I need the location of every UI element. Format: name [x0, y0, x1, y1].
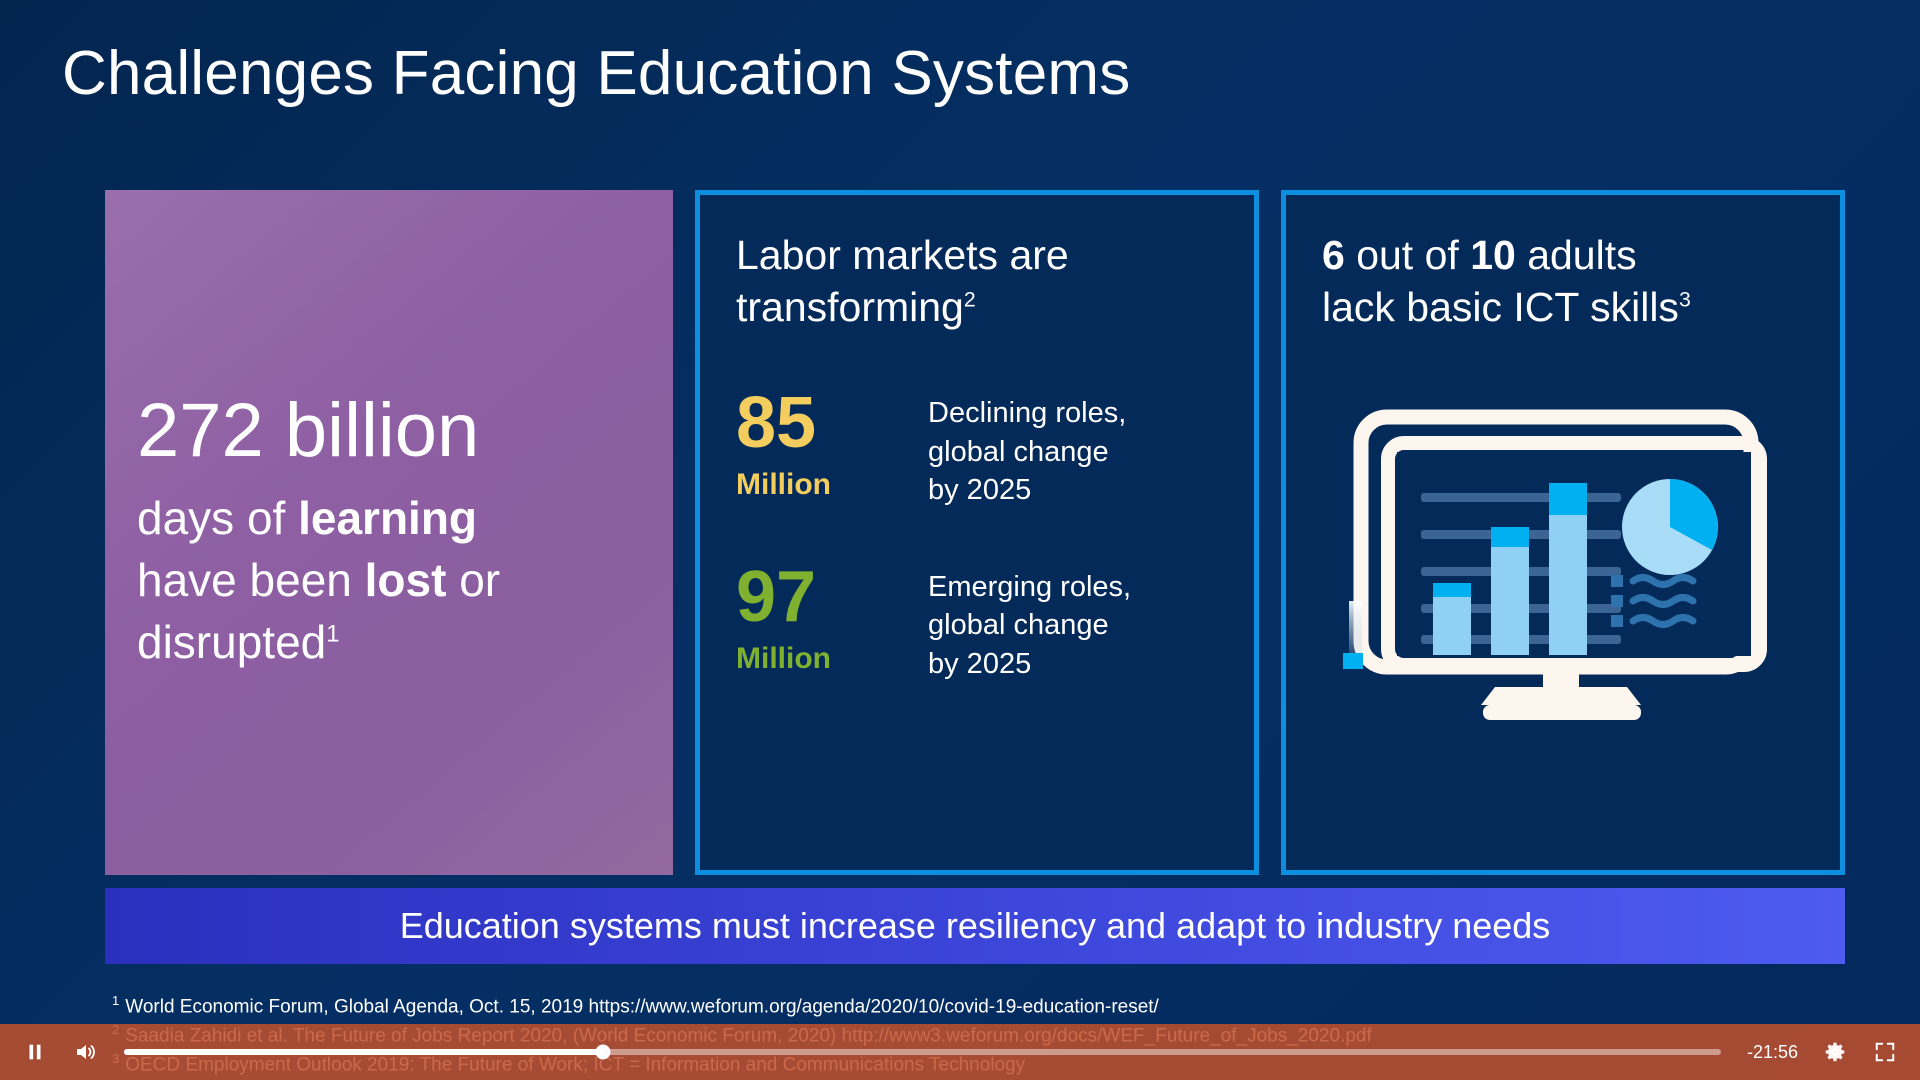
summary-banner: Education systems must increase resilien… — [105, 888, 1845, 964]
card-learning-loss: 272 billion days of learning have been l… — [105, 190, 673, 875]
emerging-line-2: global change — [928, 609, 1109, 641]
declining-line-1: Declining roles, — [928, 397, 1126, 429]
footnote-text: World Economic Forum, Global Agenda, Oct… — [125, 996, 1159, 1017]
footnote-marker-2: 2 — [964, 288, 976, 312]
stat-declining-unit: Million — [736, 468, 928, 502]
stat-row-declining: 85 Million Declining roles, global chang… — [736, 388, 1218, 510]
card-ict-skills: 6 out of 10 adults lack basic ICT skills… — [1281, 190, 1845, 875]
labor-markets-heading: Labor markets are transforming2 — [736, 229, 1218, 334]
ict-heading-ten: 10 — [1470, 232, 1516, 278]
ict-heading-six: 6 — [1322, 232, 1345, 278]
presentation-slide: Challenges Facing Education Systems 272 … — [0, 0, 1920, 1080]
body-text-1: days of — [137, 492, 298, 544]
labor-stat-list: 85 Million Declining roles, global chang… — [736, 388, 1218, 683]
emerging-line-1: Emerging roles, — [928, 571, 1131, 603]
stat-declining-description: Declining roles, global change by 2025 — [928, 388, 1126, 510]
volume-icon[interactable] — [68, 1035, 102, 1069]
body-text-4: disrupted — [137, 616, 326, 668]
declining-line-3: by 2025 — [928, 474, 1031, 506]
stat-emerging-figure: 97 Million — [736, 562, 928, 677]
stat-declining-number: 85 — [736, 388, 928, 459]
body-text-3: or — [446, 554, 500, 606]
monitor-chart-icon — [1343, 405, 1783, 785]
footnote-marker: 1 — [112, 993, 119, 1008]
body-bold-learning: learning — [298, 492, 477, 544]
ict-heading-adults: adults — [1516, 232, 1637, 278]
video-player-controls[interactable]: -21:56 — [0, 1024, 1920, 1080]
stat-emerging-number: 97 — [736, 562, 928, 633]
learning-loss-headline: 272 billion — [137, 391, 641, 471]
body-text-2: have been — [137, 554, 365, 606]
gear-icon[interactable] — [1818, 1035, 1852, 1069]
page-title: Challenges Facing Education Systems — [62, 38, 1130, 109]
progress-played — [124, 1049, 603, 1055]
fullscreen-icon[interactable] — [1868, 1035, 1902, 1069]
learning-loss-body: days of learning have been lost or disru… — [137, 487, 641, 673]
stat-declining-figure: 85 Million — [736, 388, 928, 503]
ict-heading-outof: out of — [1345, 232, 1470, 278]
ict-heading-line2: lack basic ICT skills — [1322, 284, 1679, 330]
declining-line-2: global change — [928, 436, 1109, 468]
stat-row-emerging: 97 Million Emerging roles, global change… — [736, 562, 1218, 684]
footnote-marker-3: 3 — [1679, 288, 1691, 312]
stat-emerging-unit: Million — [736, 642, 928, 676]
ict-heading: 6 out of 10 adults lack basic ICT skills… — [1322, 229, 1804, 334]
time-remaining: -21:56 — [1747, 1042, 1798, 1063]
pause-icon[interactable] — [18, 1035, 52, 1069]
card-row: 272 billion days of learning have been l… — [105, 190, 1845, 875]
footnote-marker-1: 1 — [326, 621, 339, 648]
footnote-item: 1World Economic Forum, Global Agenda, Oc… — [112, 992, 1812, 1021]
stat-emerging-description: Emerging roles, global change by 2025 — [928, 562, 1131, 684]
body-bold-lost: lost — [365, 554, 447, 606]
labor-heading-text: Labor markets are transforming — [736, 232, 1069, 330]
progress-handle[interactable] — [596, 1045, 611, 1060]
summary-banner-text: Education systems must increase resilien… — [400, 905, 1551, 947]
card-labor-markets: Labor markets are transforming2 85 Milli… — [695, 190, 1259, 875]
progress-scrubber[interactable] — [124, 1049, 1721, 1055]
emerging-line-3: by 2025 — [928, 648, 1031, 680]
